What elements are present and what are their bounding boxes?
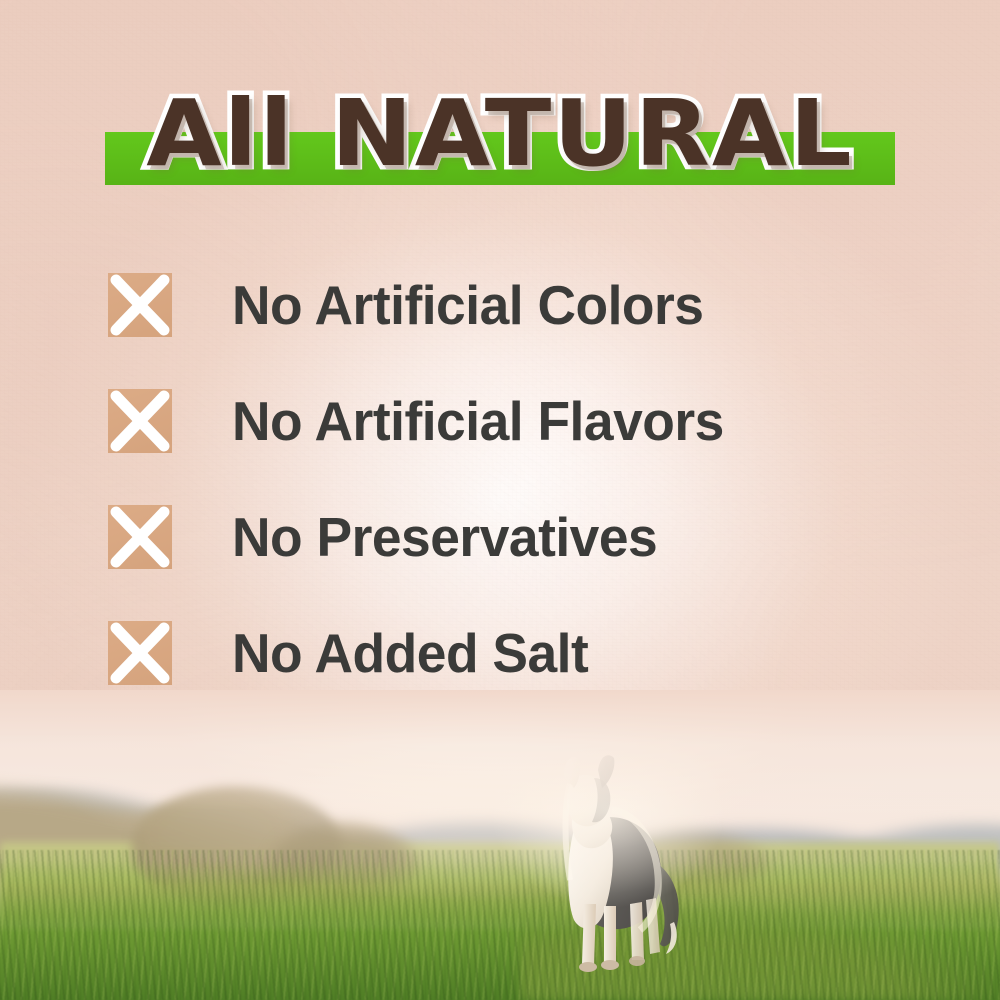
claim-label: No Added Salt: [232, 624, 588, 682]
landscape-photo: [0, 690, 1000, 1000]
x-mark-icon: [108, 273, 172, 337]
page-title: All NATURAL: [0, 78, 1000, 190]
claims-list: No Artificial Colors No Artificial Flavo…: [0, 247, 1000, 711]
all-natural-panel: All NATURAL No Artificial Colors: [0, 0, 1000, 1000]
x-mark-icon: [108, 621, 172, 685]
title-banner: All NATURAL: [0, 78, 1000, 196]
claim-row: No Preservatives: [0, 479, 1000, 595]
x-mark-icon: [108, 505, 172, 569]
x-mark-icon: [108, 389, 172, 453]
claim-label: No Artificial Flavors: [232, 392, 724, 450]
claim-label: No Artificial Colors: [232, 276, 703, 334]
dog-border-collie: [524, 754, 714, 982]
grass-texture: [0, 850, 1000, 1000]
claim-label: No Preservatives: [232, 508, 657, 566]
claim-row: No Artificial Flavors: [0, 363, 1000, 479]
claim-row: No Artificial Colors: [0, 247, 1000, 363]
